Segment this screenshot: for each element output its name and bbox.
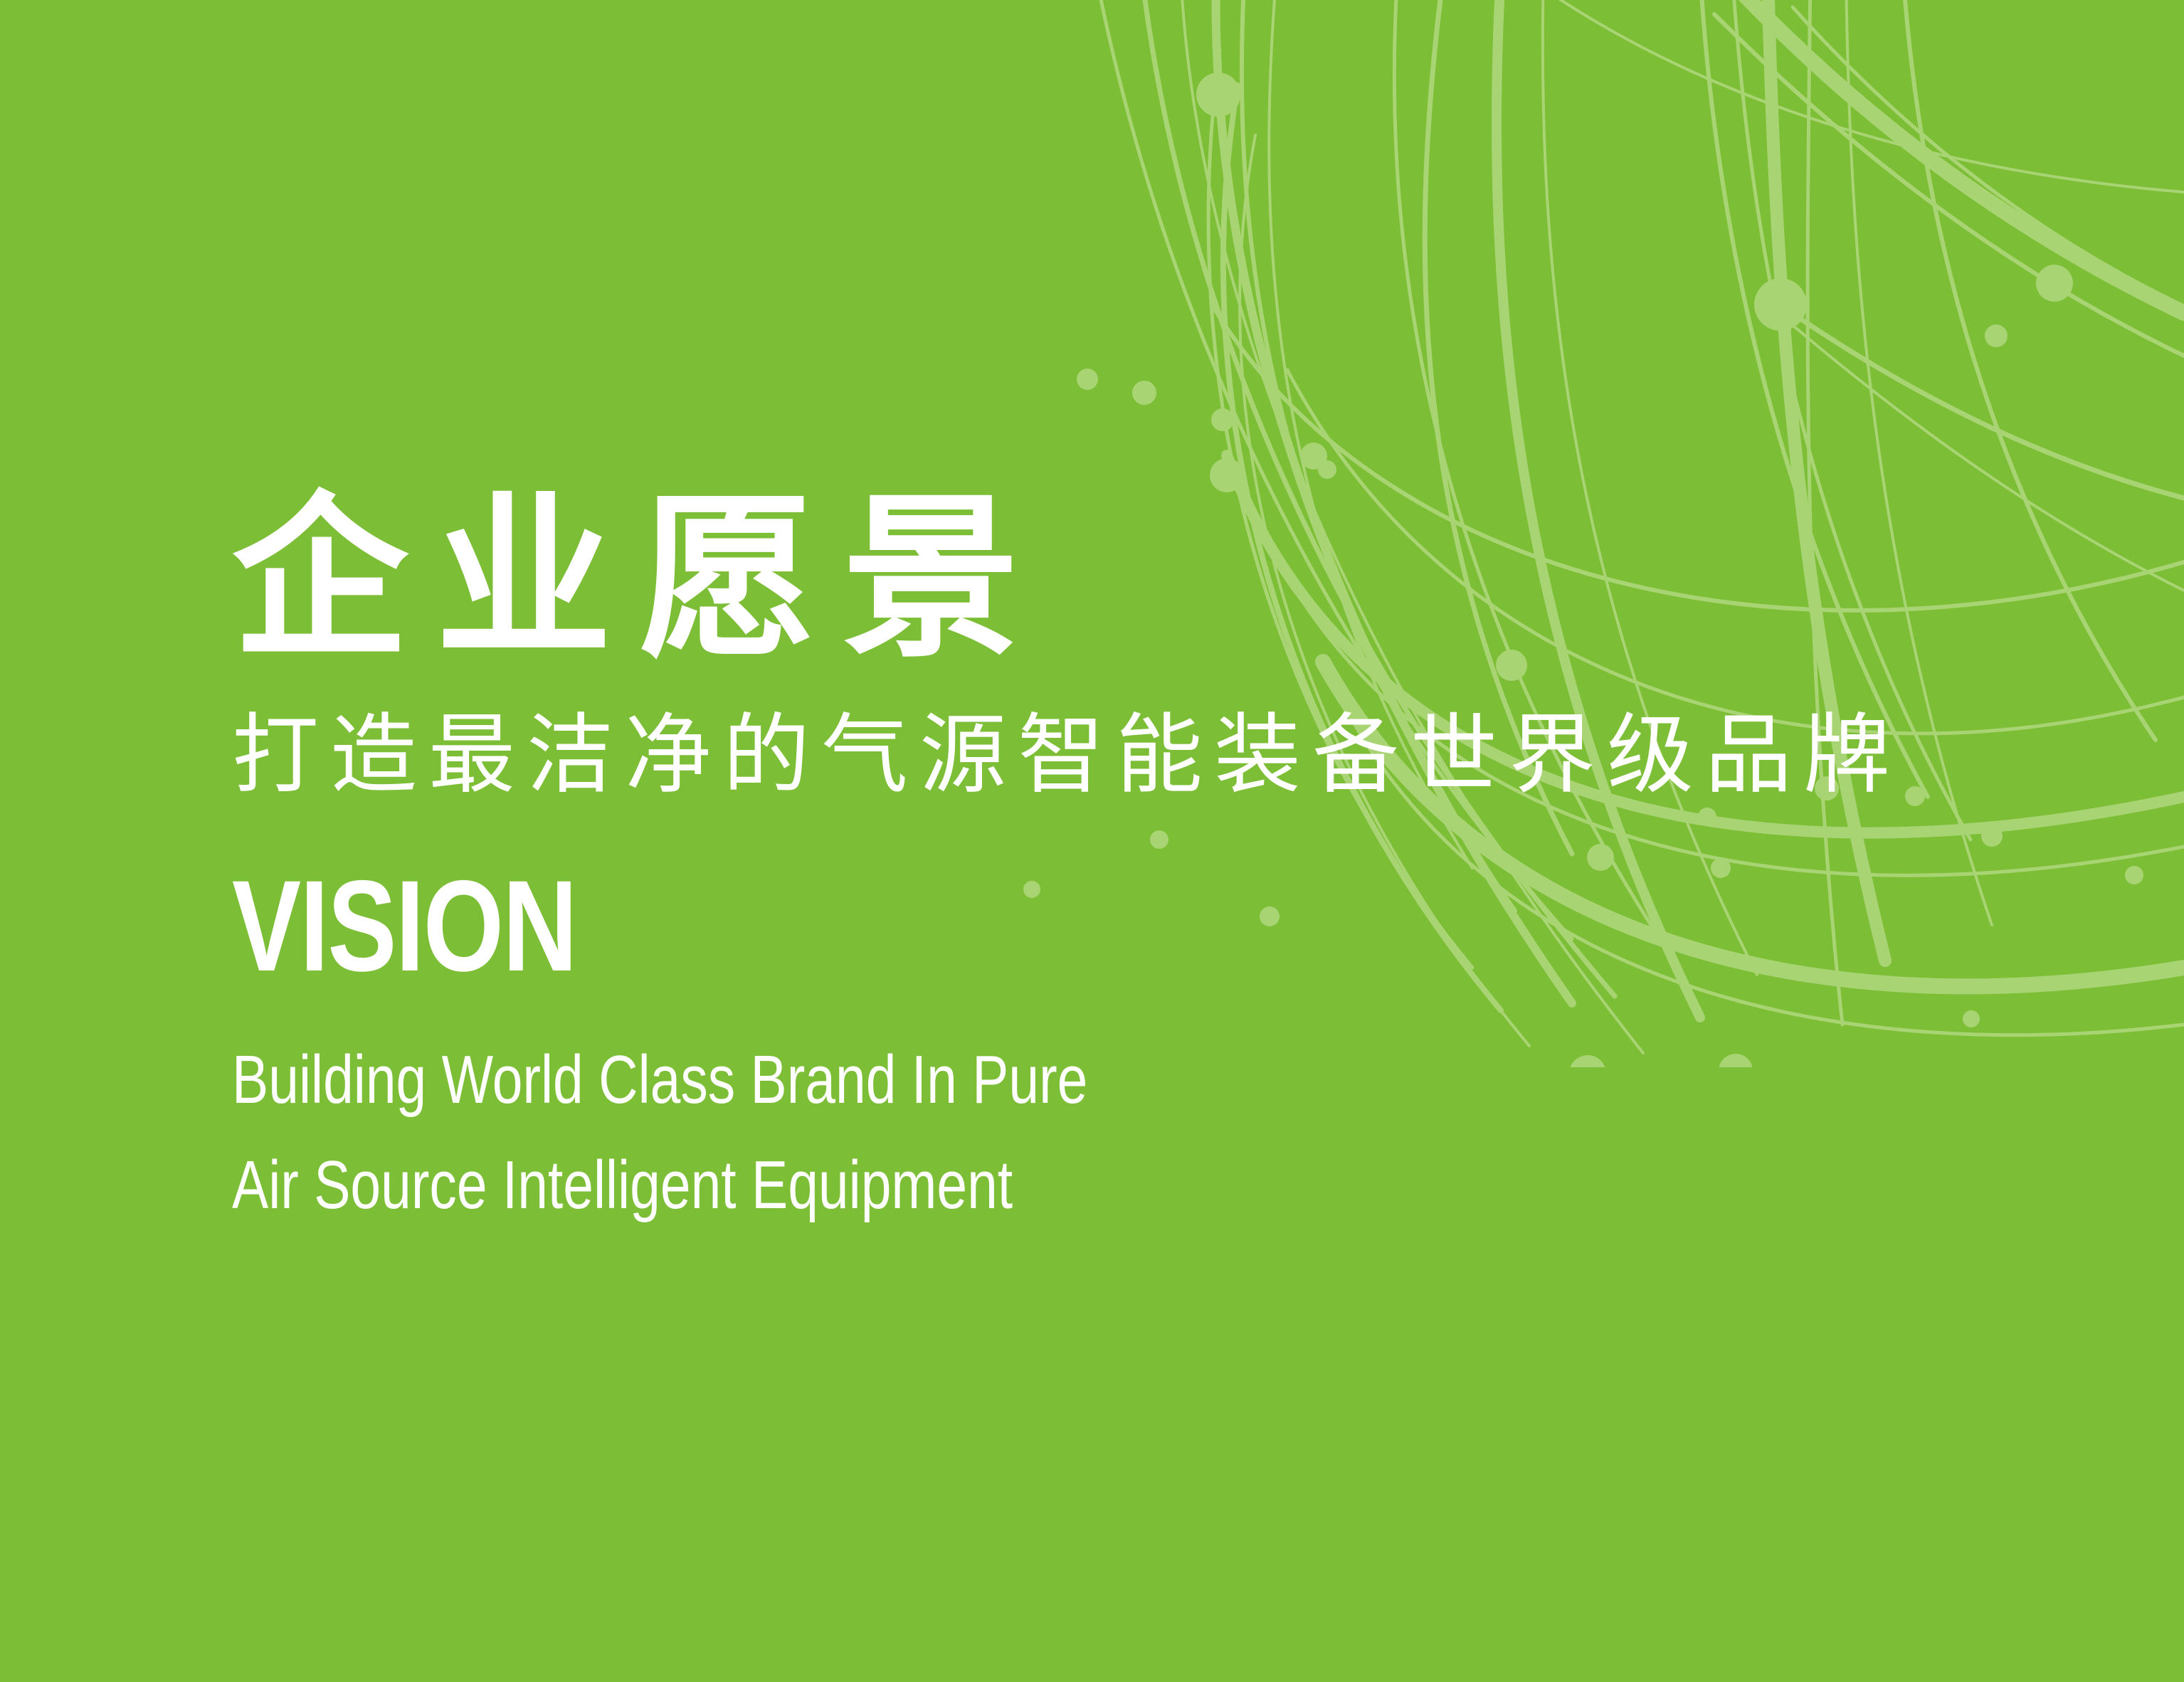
page-subtitle-en-line-1: Building World Class Brand In Pure: [232, 1046, 1712, 1114]
vision-slide: 企业愿景 打造最洁净的气源智能装备世界级品牌 VISION Building W…: [0, 0, 2184, 1682]
page-subtitle-en-line-2: Air Source Intelligent Equipment: [232, 1151, 1712, 1220]
vision-text-block: 企业愿景 打造最洁净的气源智能装备世界级品牌 VISION Building W…: [232, 491, 2082, 1220]
page-title-en: VISION: [232, 861, 1712, 990]
page-title-cn: 企业愿景: [232, 491, 2082, 667]
page-subtitle-cn: 打造最洁净的气源智能装备世界级品牌: [232, 712, 2082, 798]
